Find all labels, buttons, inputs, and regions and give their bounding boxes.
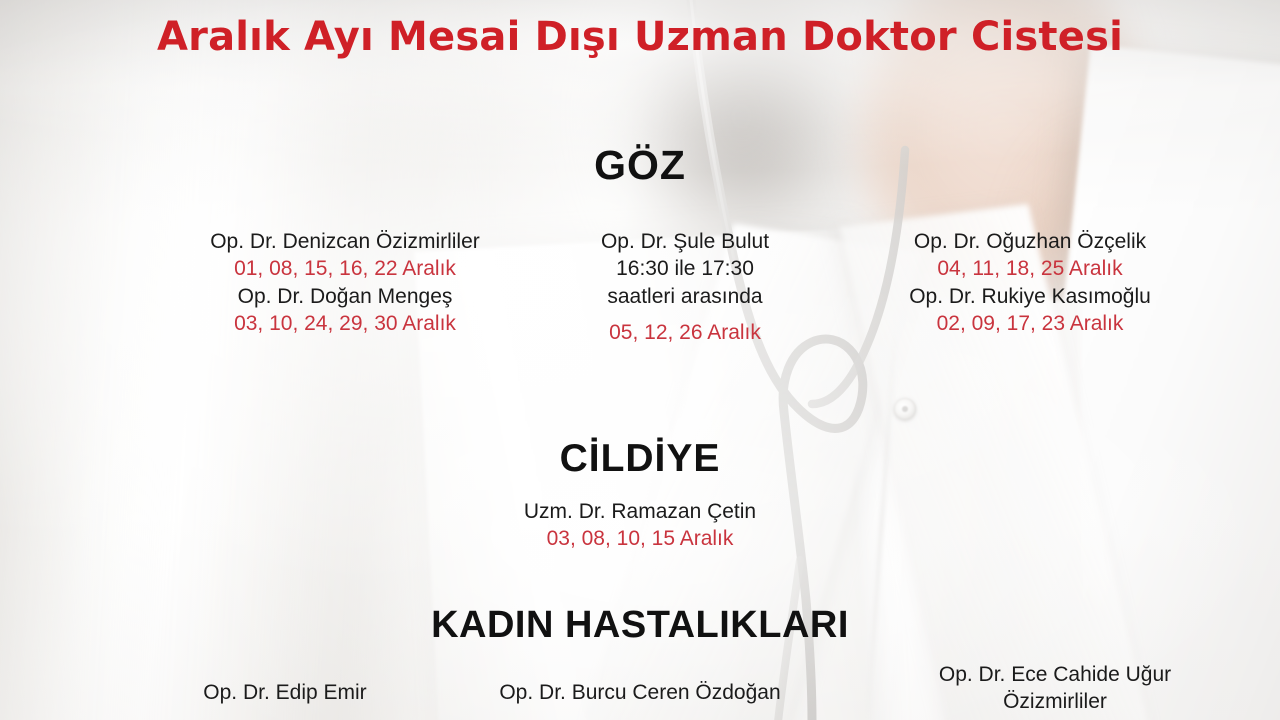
doctor-dates: 04, 11, 18, 25 Aralık (855, 255, 1205, 282)
goz-column-left: Op. Dr. Denizcan Özizmirliler 01, 08, 15… (150, 228, 540, 337)
page-title: Aralık Ayı Mesai Dışı Uzman Doktor Ciste… (0, 14, 1280, 60)
doctor-name: Op. Dr. Denizcan Özizmirliler (150, 228, 540, 255)
doctor-dates: 03, 08, 10, 15 Aralık (440, 525, 840, 552)
doctor-name: Op. Dr. Şule Bulut (545, 228, 825, 255)
section-heading-kadin-hastaliklari: KADIN HASTALIKLARI (0, 604, 1280, 647)
doctor-time-note: saatleri arasında (545, 283, 825, 310)
doctor-time-range: 16:30 ile 17:30 (545, 255, 825, 282)
doctor-name: Op. Dr. Burcu Ceren Özdoğan (430, 680, 850, 707)
doctor-name: Uzm. Dr. Ramazan Çetin (440, 498, 840, 525)
doctor-name-line-1: Op. Dr. Ece Cahide Uğur (870, 662, 1240, 689)
poster-canvas: Aralık Ayı Mesai Dışı Uzman Doktor Ciste… (0, 0, 1280, 720)
doctor-dates: 03, 10, 24, 29, 30 Aralık (150, 310, 540, 337)
doctor-dates: 05, 12, 26 Aralık (545, 319, 825, 346)
poster-content: Aralık Ayı Mesai Dışı Uzman Doktor Ciste… (0, 0, 1280, 720)
kadin-hastaliklari-row: Op. Dr. Edip Emir Op. Dr. Burcu Ceren Öz… (0, 668, 1280, 720)
doctor-name: Op. Dr. Rukiye Kasımoğlu (855, 283, 1205, 310)
section-heading-goz: GÖZ (0, 142, 1280, 189)
section-heading-cildiye: CİLDİYE (0, 437, 1280, 481)
cildiye-column: Uzm. Dr. Ramazan Çetin 03, 08, 10, 15 Ar… (440, 498, 840, 553)
doctor-dates: 02, 09, 17, 23 Aralık (855, 310, 1205, 337)
doctor-name-line-2: Özizmirliler (870, 689, 1240, 716)
doctor-name: Op. Dr. Edip Emir (120, 680, 450, 707)
doctor-name: Op. Dr. Oğuzhan Özçelik (855, 228, 1205, 255)
doctor-name-wrapped: Op. Dr. Ece Cahide Uğur Özizmirliler (870, 662, 1240, 716)
goz-column-middle: Op. Dr. Şule Bulut 16:30 ile 17:30 saatl… (545, 228, 825, 346)
goz-column-right: Op. Dr. Oğuzhan Özçelik 04, 11, 18, 25 A… (855, 228, 1205, 337)
doctor-name: Op. Dr. Doğan Mengeş (150, 283, 540, 310)
spacer (545, 310, 825, 319)
doctor-dates: 01, 08, 15, 16, 22 Aralık (150, 255, 540, 282)
